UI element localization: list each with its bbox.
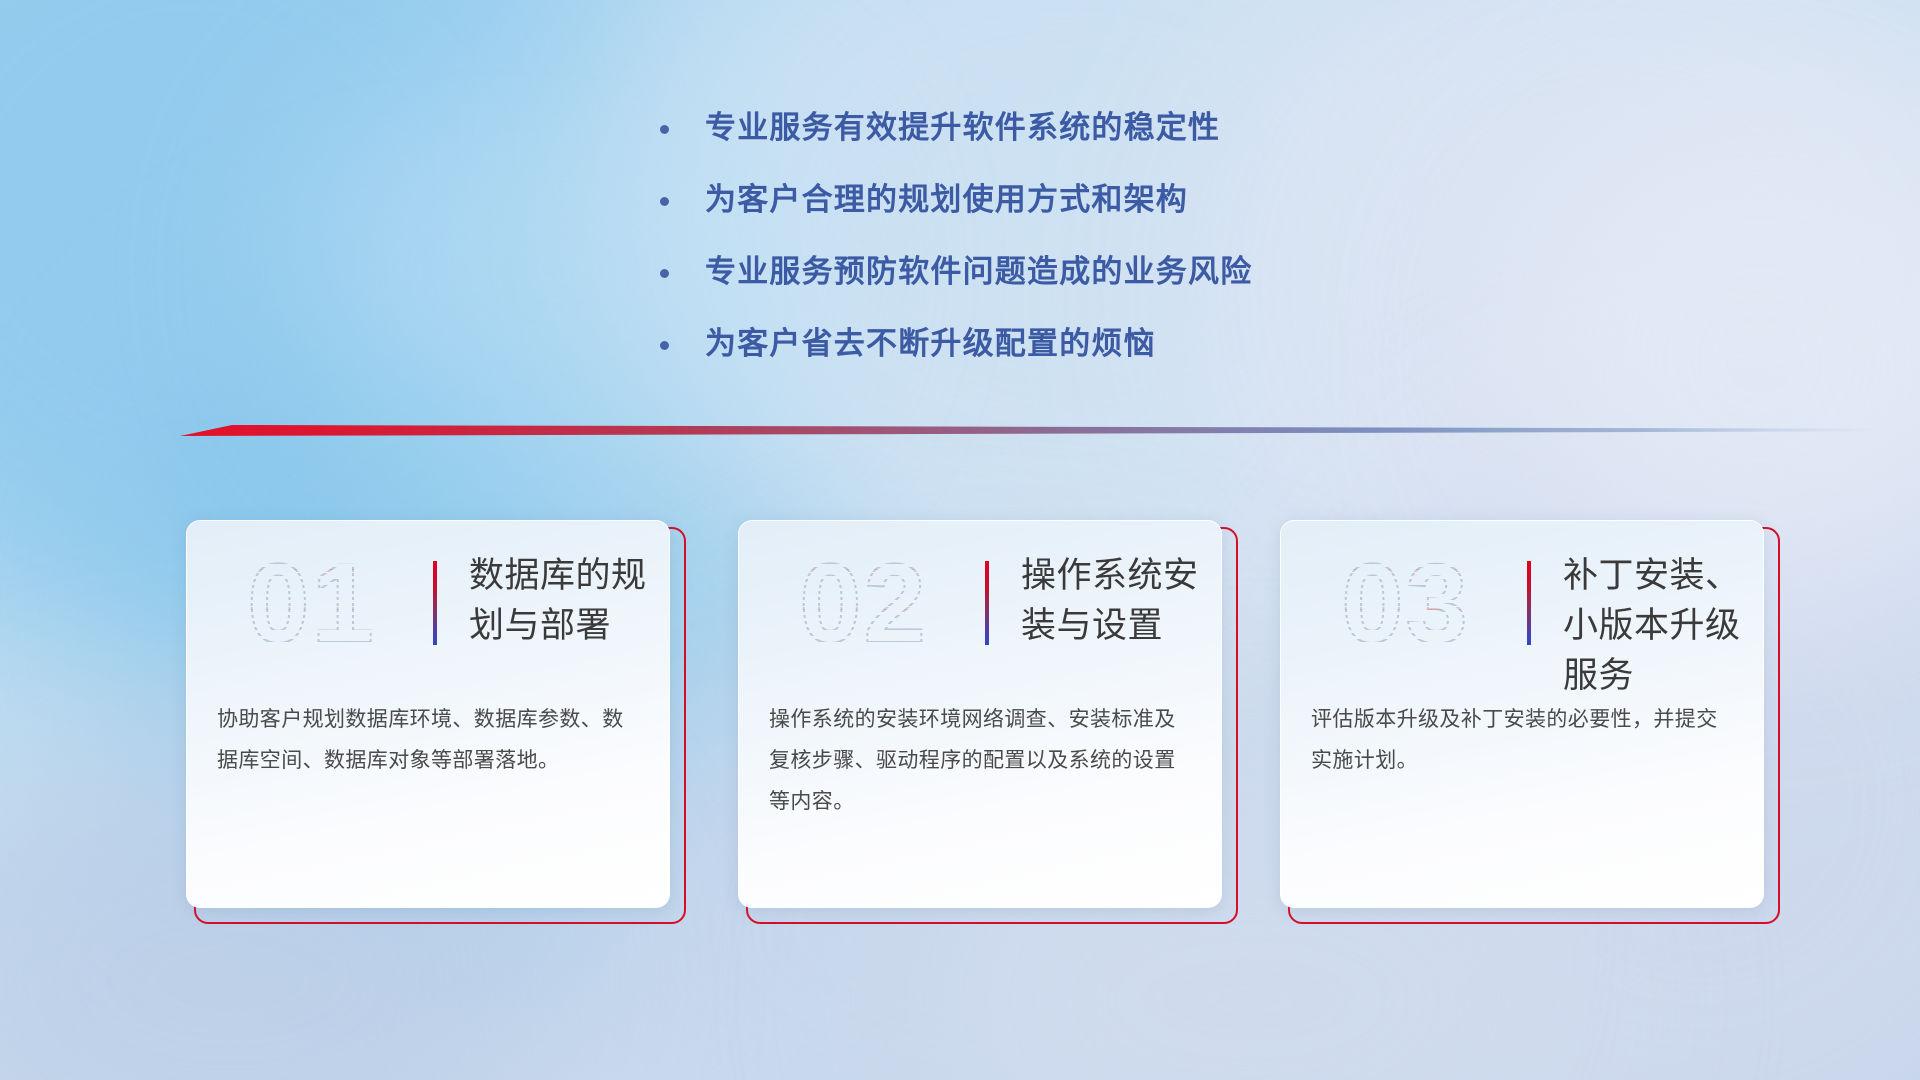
card-divider-bar (1527, 561, 1531, 645)
list-item: 专业服务预防软件问题造成的业务风险 (660, 252, 1252, 292)
section-divider (180, 420, 1880, 442)
card-body-text: 协助客户规划数据库环境、数据库参数、数据库空间、数据库对象等部署落地。 (217, 699, 641, 781)
card-header: 02 02 操作系统安装与设置 (739, 521, 1221, 689)
list-item: 为客户合理的规划使用方式和架构 (660, 180, 1252, 220)
card-surface: 03 03 补丁安装、小版本升级服务 评估版本升级及补丁安装的必要性，并提交实施… (1280, 520, 1764, 908)
card-title: 数据库的规划与部署 (469, 551, 654, 651)
list-item: 专业服务有效提升软件系统的稳定性 (660, 108, 1252, 148)
benefits-bullet-list: 专业服务有效提升软件系统的稳定性 为客户合理的规划使用方式和架构 专业服务预防软… (660, 108, 1252, 396)
service-card[interactable]: 03 03 补丁安装、小版本升级服务 评估版本升级及补丁安装的必要性，并提交实施… (1280, 520, 1776, 920)
card-divider-bar (985, 561, 989, 645)
card-number-accent-stripes: 03 (1303, 543, 1508, 665)
bullet-dot-icon (660, 341, 669, 350)
service-card[interactable]: 02 02 操作系统安装与设置 操作系统的安装环境网络调查、安装标准及复核步骤、… (738, 520, 1234, 920)
bullet-dot-icon (660, 125, 669, 134)
card-body-text: 操作系统的安装环境网络调查、安装标准及复核步骤、驱动程序的配置以及系统的设置等内… (769, 699, 1193, 822)
service-card[interactable]: 01 01 数据库的规划与部署 协助客户规划数据库环境、数据库参数、数据库空间、… (186, 520, 682, 920)
card-surface: 02 02 操作系统安装与设置 操作系统的安装环境网络调查、安装标准及复核步骤、… (738, 520, 1222, 908)
bullet-text: 为客户合理的规划使用方式和架构 (705, 180, 1188, 220)
bullet-dot-icon (660, 197, 669, 206)
service-card-row: 01 01 数据库的规划与部署 协助客户规划数据库环境、数据库参数、数据库空间、… (0, 520, 1920, 940)
card-title: 补丁安装、小版本升级服务 (1563, 551, 1748, 701)
bullet-dot-icon (660, 269, 669, 278)
bullet-text: 专业服务有效提升软件系统的稳定性 (705, 108, 1220, 148)
card-body-text: 评估版本升级及补丁安装的必要性，并提交实施计划。 (1311, 699, 1735, 781)
list-item: 为客户省去不断升级配置的烦恼 (660, 324, 1252, 364)
divider-tapered-line-icon (180, 420, 1880, 442)
card-divider-bar (433, 561, 437, 645)
card-number-accent-stripes: 02 (761, 543, 966, 665)
card-surface: 01 01 数据库的规划与部署 协助客户规划数据库环境、数据库参数、数据库空间、… (186, 520, 670, 908)
card-header: 03 03 补丁安装、小版本升级服务 (1281, 521, 1763, 689)
bullet-text: 专业服务预防软件问题造成的业务风险 (705, 252, 1252, 292)
card-number-accent-stripes: 01 (209, 543, 414, 665)
card-title: 操作系统安装与设置 (1021, 551, 1206, 651)
card-header: 01 01 数据库的规划与部署 (187, 521, 669, 689)
bullet-text: 为客户省去不断升级配置的烦恼 (705, 324, 1156, 364)
